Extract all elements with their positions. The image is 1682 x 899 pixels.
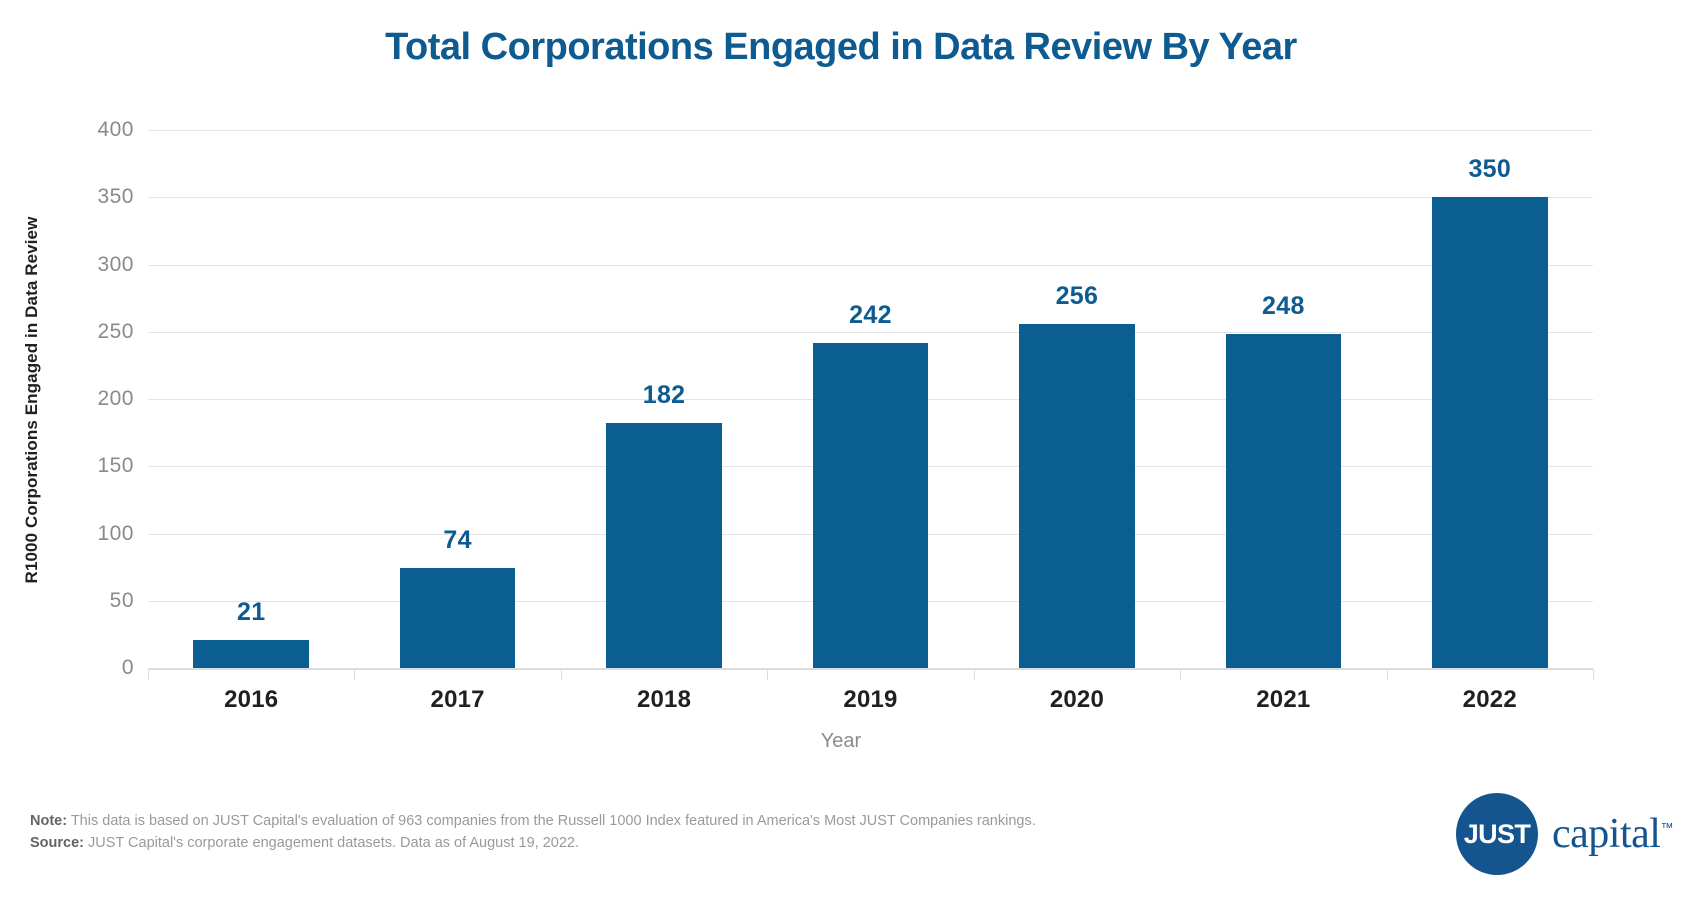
- bar-value-label: 242: [767, 301, 973, 330]
- bar[interactable]: [1432, 197, 1548, 668]
- y-tick-label: 0: [74, 656, 134, 680]
- bar-value-label: 21: [148, 598, 354, 627]
- footer-note-line: Note: This data is based on JUST Capital…: [30, 810, 1130, 832]
- logo-mark-text: JUST: [1464, 819, 1531, 850]
- x-tick-label: 2020: [974, 686, 1180, 714]
- gridline: [148, 197, 1593, 198]
- gridline: [148, 130, 1593, 131]
- y-tick-label: 50: [74, 589, 134, 613]
- footer-source-line: Source: JUST Capital's corporate engagem…: [30, 832, 1130, 854]
- chart-title: Total Corporations Engaged in Data Revie…: [0, 26, 1682, 69]
- y-tick-label: 100: [74, 522, 134, 546]
- x-tick-label: 2017: [354, 686, 560, 714]
- x-tick-mark: [767, 669, 768, 680]
- bar[interactable]: [400, 568, 516, 668]
- x-tick-label: 2018: [561, 686, 767, 714]
- bar-value-label: 350: [1387, 155, 1593, 184]
- x-tick-mark: [1180, 669, 1181, 680]
- y-tick-label: 150: [74, 454, 134, 478]
- just-capital-logo: JUST capital™: [1456, 793, 1673, 875]
- bar[interactable]: [193, 640, 309, 668]
- y-tick-label: 400: [74, 118, 134, 142]
- logo-mark-circle: JUST: [1456, 793, 1538, 875]
- footer-notes: Note: This data is based on JUST Capital…: [30, 810, 1130, 855]
- bar-value-label: 182: [561, 381, 767, 410]
- y-tick-label: 350: [74, 185, 134, 209]
- chart-page: Total Corporations Engaged in Data Revie…: [0, 0, 1682, 899]
- plot-area: 2174182242256248350: [148, 130, 1593, 668]
- x-axis-title: Year: [0, 730, 1682, 753]
- source-text: JUST Capital's corporate engagement data…: [84, 835, 579, 851]
- gridline: [148, 265, 1593, 266]
- bar[interactable]: [813, 343, 929, 668]
- x-tick-label: 2019: [767, 686, 973, 714]
- x-tick-mark: [974, 669, 975, 680]
- note-text: This data is based on JUST Capital's eva…: [67, 813, 1036, 829]
- source-label: Source:: [30, 835, 84, 851]
- bar-value-label: 248: [1180, 292, 1386, 321]
- y-tick-label: 200: [74, 387, 134, 411]
- x-tick-mark: [1593, 669, 1594, 680]
- x-tick-label: 2022: [1387, 686, 1593, 714]
- x-tick-mark: [354, 669, 355, 680]
- y-axis-tick-labels: 400350300250200150100500: [30, 130, 134, 668]
- bar[interactable]: [1019, 324, 1135, 668]
- gridline: [148, 332, 1593, 333]
- x-tick-mark: [148, 669, 149, 680]
- x-tick-label: 2021: [1180, 686, 1386, 714]
- bar-value-label: 74: [354, 526, 560, 555]
- bar-value-label: 256: [974, 282, 1180, 311]
- note-label: Note:: [30, 813, 67, 829]
- trademark-icon: ™: [1660, 820, 1673, 835]
- logo-wordmark: capital™: [1552, 810, 1673, 858]
- x-tick-label: 2016: [148, 686, 354, 714]
- x-tick-mark: [1387, 669, 1388, 680]
- logo-word-text: capital: [1552, 811, 1660, 857]
- bar[interactable]: [1226, 334, 1342, 668]
- y-tick-label: 250: [74, 320, 134, 344]
- x-tick-mark: [561, 669, 562, 680]
- bar[interactable]: [606, 423, 722, 668]
- y-tick-label: 300: [74, 253, 134, 277]
- x-axis-line: [148, 668, 1593, 670]
